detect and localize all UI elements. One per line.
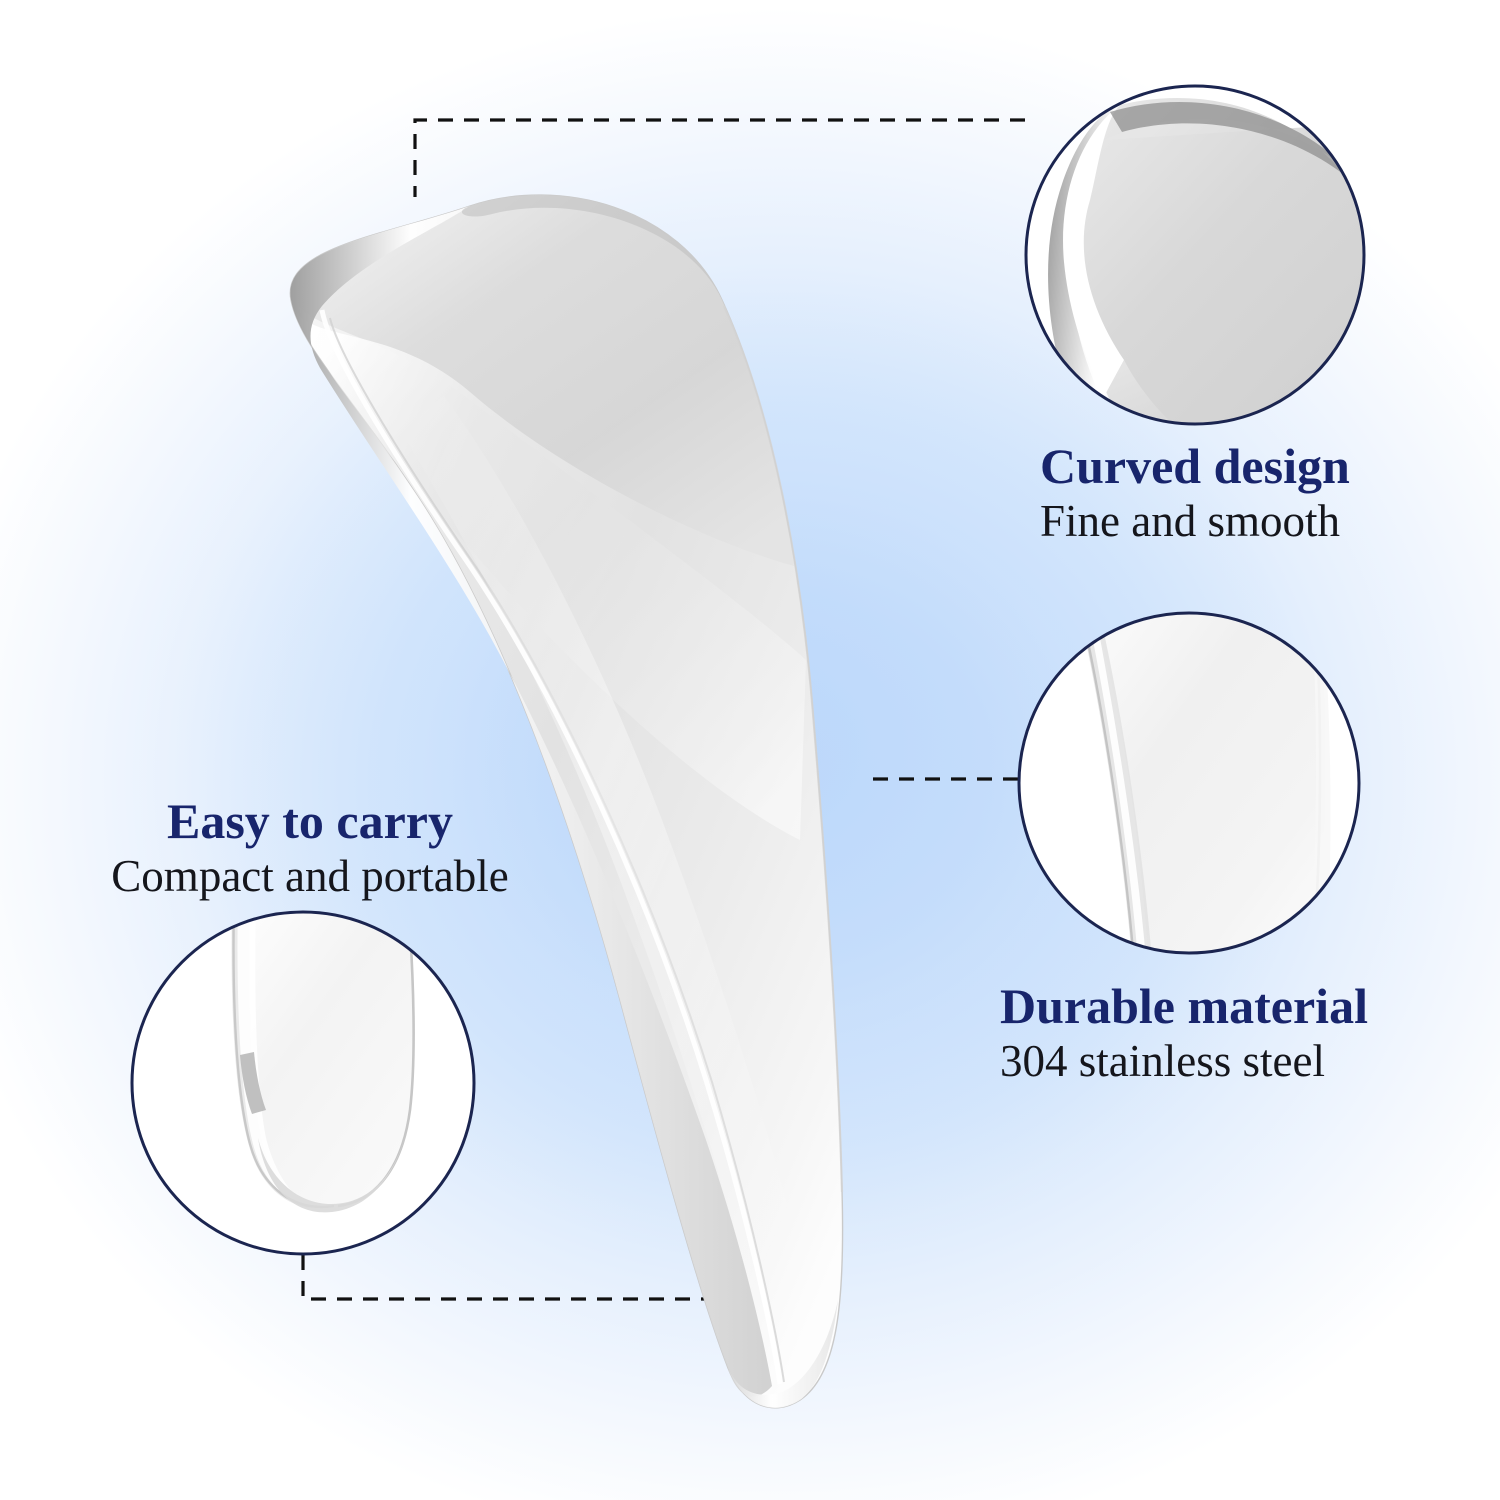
- callout-subtitle-durable-material: 304 stainless steel: [1000, 1036, 1368, 1086]
- callout-title-durable-material: Durable material: [1000, 980, 1368, 1032]
- connector-curved-design: [415, 120, 1025, 197]
- zoom-circle-durable-material: [1019, 600, 1359, 966]
- callout-easy-to-carry: Easy to carry Compact and portable: [100, 795, 520, 901]
- callout-durable-material: Durable material 304 stainless steel: [1000, 980, 1368, 1086]
- callout-subtitle-easy-to-carry: Compact and portable: [100, 851, 520, 901]
- callout-title-easy-to-carry: Easy to carry: [100, 795, 520, 847]
- callout-subtitle-curved-design: Fine and smooth: [1040, 496, 1350, 546]
- callout-curved-design: Curved design Fine and smooth: [1040, 440, 1350, 546]
- zoom-circle-easy-to-carry: [132, 900, 474, 1254]
- infographic-canvas: Curved design Fine and smooth Durable ma…: [0, 0, 1500, 1500]
- artwork-layer: [0, 0, 1500, 1500]
- callout-title-curved-design: Curved design: [1040, 440, 1350, 492]
